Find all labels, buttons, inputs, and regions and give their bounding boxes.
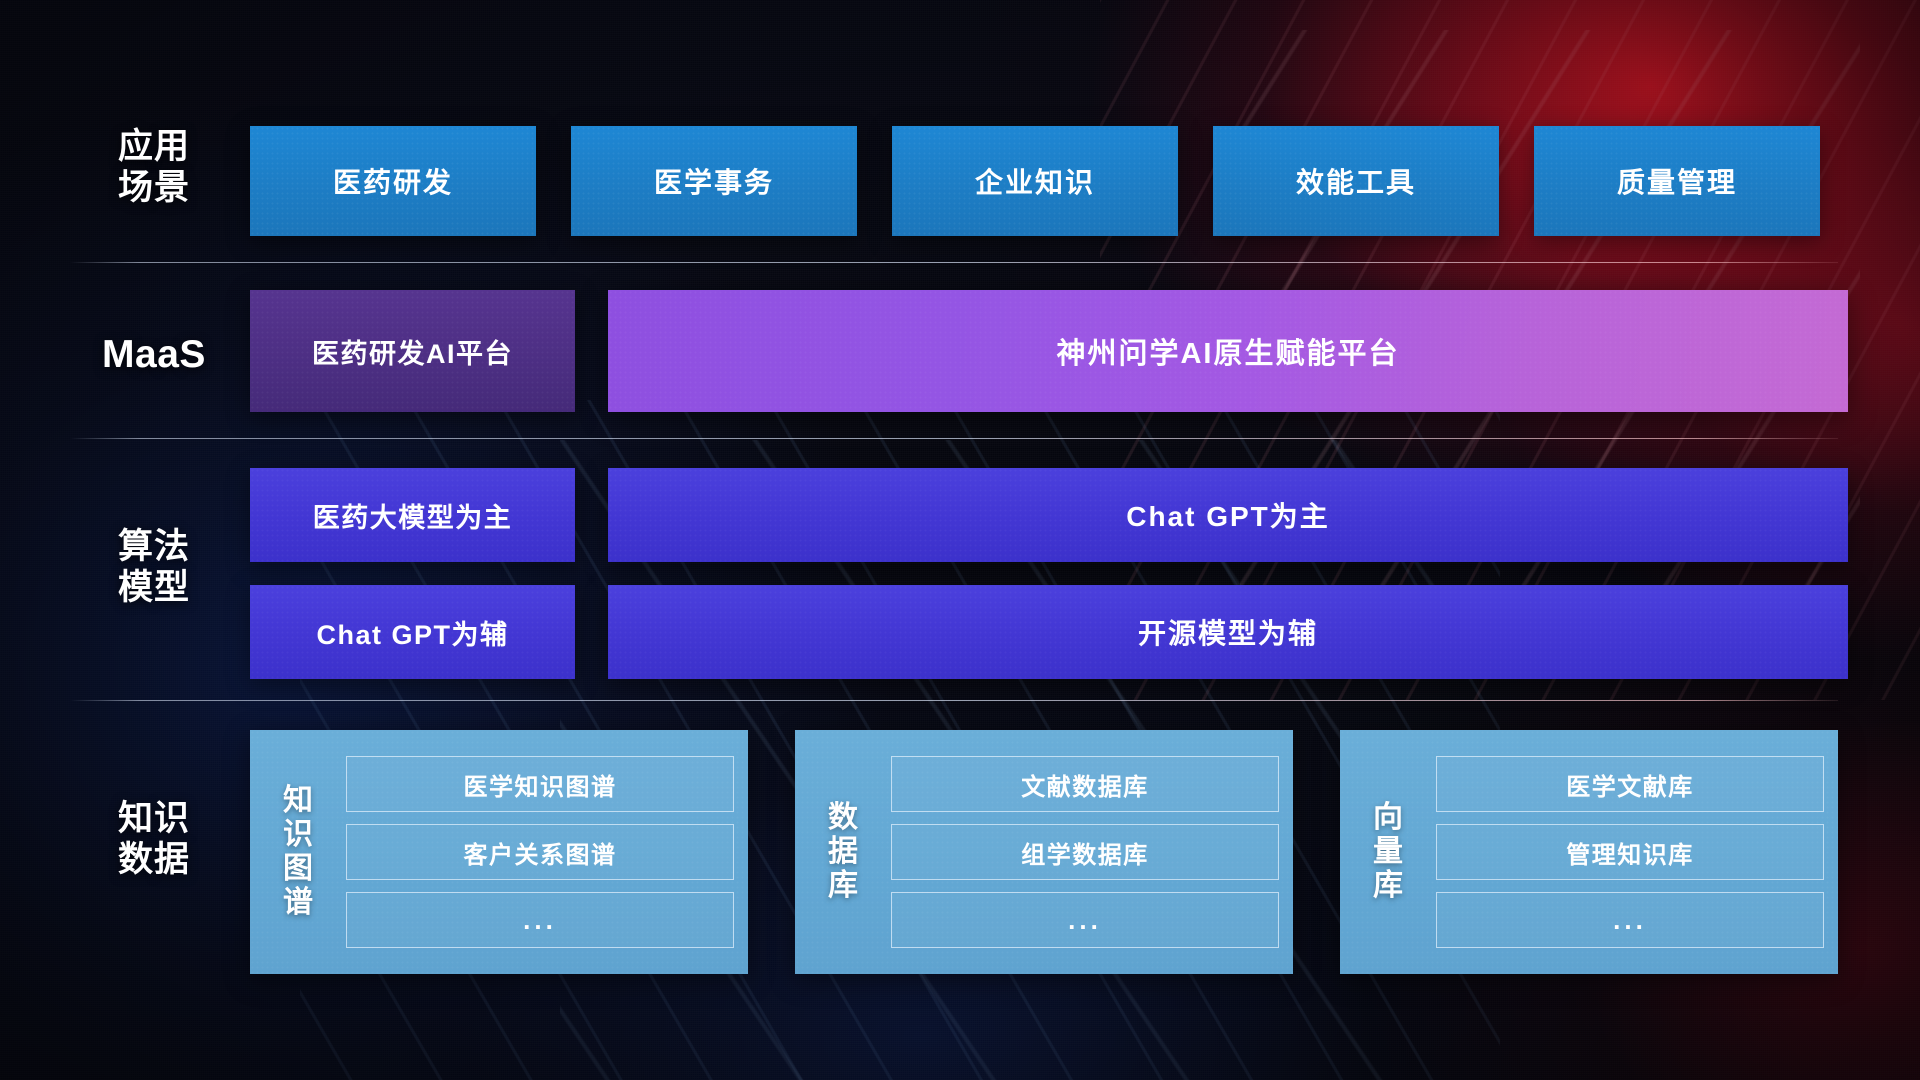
title-char: 据 bbox=[813, 835, 873, 869]
row-label-line-2: 模型 bbox=[70, 567, 238, 608]
app-card-medical-affairs[interactable]: 医学事务 bbox=[571, 126, 857, 236]
row-label-line-1: 应用 bbox=[70, 126, 238, 167]
divider-maas-algorithms bbox=[70, 438, 1838, 439]
algorithm-row-primary: 医药大模型为主 Chat GPT为主 bbox=[250, 468, 1848, 562]
knowledge-item-management-knowledge-store[interactable]: 管理知识库 bbox=[1436, 824, 1824, 880]
title-char: 库 bbox=[813, 869, 873, 903]
knowledge-item-more[interactable]: ... bbox=[346, 892, 734, 948]
title-char: 图 bbox=[268, 852, 328, 886]
knowledge-group-title-vector-store: 向 量 库 bbox=[1358, 801, 1418, 904]
app-card-efficiency-tools[interactable]: 效能工具 bbox=[1213, 126, 1499, 236]
row-label-maas: MaaS bbox=[70, 332, 238, 378]
knowledge-item-list: 文献数据库 组学数据库 ... bbox=[873, 756, 1279, 948]
knowledge-group-knowledge-graph: 知 识 图 谱 医学知识图谱 客户关系图谱 ... bbox=[250, 730, 748, 974]
knowledge-group-title-database: 数 据 库 bbox=[813, 801, 873, 904]
title-char: 知 bbox=[268, 784, 328, 818]
architecture-diagram: 应用 场景 医药研发 医学事务 企业知识 效能工具 质量管理 MaaS 医药研发… bbox=[0, 0, 1920, 1080]
app-card-quality-management[interactable]: 质量管理 bbox=[1534, 126, 1820, 236]
title-char: 识 bbox=[268, 818, 328, 852]
knowledge-item-more[interactable]: ... bbox=[891, 892, 1279, 948]
maas-card-drug-rd-ai-platform[interactable]: 医药研发AI平台 bbox=[250, 290, 575, 412]
knowledge-item-omics-database[interactable]: 组学数据库 bbox=[891, 824, 1279, 880]
row-label-algorithms-models: 算法 模型 bbox=[70, 526, 238, 609]
title-char: 量 bbox=[1358, 835, 1418, 869]
knowledge-item-more[interactable]: ... bbox=[1436, 892, 1824, 948]
knowledge-item-medical-literature-store[interactable]: 医学文献库 bbox=[1436, 756, 1824, 812]
app-card-enterprise-knowledge[interactable]: 企业知识 bbox=[892, 126, 1178, 236]
knowledge-item-literature-database[interactable]: 文献数据库 bbox=[891, 756, 1279, 812]
slide-canvas: 应用 场景 医药研发 医学事务 企业知识 效能工具 质量管理 MaaS 医药研发… bbox=[0, 0, 1920, 1080]
app-card-drug-rd[interactable]: 医药研发 bbox=[250, 126, 536, 236]
row-label-line-2: 数据 bbox=[70, 839, 238, 880]
row-knowledge-data: 知识 数据 知 识 图 谱 医学知识图谱 客户关系图谱 ... bbox=[70, 730, 1920, 974]
knowledge-group-title-knowledge-graph: 知 识 图 谱 bbox=[268, 784, 328, 921]
row-maas: MaaS 医药研发AI平台 神州问学AI原生赋能平台 bbox=[70, 290, 1920, 412]
algo-card-pharma-llm-primary[interactable]: 医药大模型为主 bbox=[250, 468, 575, 562]
row-label-line-2: 场景 bbox=[70, 167, 238, 208]
knowledge-item-medical-knowledge-graph[interactable]: 医学知识图谱 bbox=[346, 756, 734, 812]
algo-card-chatgpt-secondary[interactable]: Chat GPT为辅 bbox=[250, 585, 575, 679]
maas-card-shenzhou-wenxue-platform[interactable]: 神州问学AI原生赋能平台 bbox=[608, 290, 1848, 412]
divider-algorithms-knowledge bbox=[70, 700, 1838, 701]
row-label-application-scenarios: 应用 场景 bbox=[70, 126, 238, 209]
algorithm-card-grid: 医药大模型为主 Chat GPT为主 Chat GPT为辅 开源模型为辅 bbox=[250, 468, 1848, 679]
knowledge-group-database: 数 据 库 文献数据库 组学数据库 ... bbox=[795, 730, 1293, 974]
knowledge-group-vector-store: 向 量 库 医学文献库 管理知识库 ... bbox=[1340, 730, 1838, 974]
knowledge-item-customer-relationship-graph[interactable]: 客户关系图谱 bbox=[346, 824, 734, 880]
row-label-knowledge-data: 知识 数据 bbox=[70, 798, 238, 881]
divider-apps-maas bbox=[70, 262, 1838, 263]
knowledge-item-list: 医学文献库 管理知识库 ... bbox=[1418, 756, 1824, 948]
knowledge-group-list: 知 识 图 谱 医学知识图谱 客户关系图谱 ... 数 据 bbox=[250, 730, 1838, 974]
row-algorithms-models: 算法 模型 医药大模型为主 Chat GPT为主 Chat GPT为辅 开源模型… bbox=[70, 468, 1920, 678]
algo-card-opensource-secondary[interactable]: 开源模型为辅 bbox=[608, 585, 1848, 679]
algo-card-chatgpt-primary[interactable]: Chat GPT为主 bbox=[608, 468, 1848, 562]
row-label-line-1: 知识 bbox=[70, 798, 238, 839]
title-char: 向 bbox=[1358, 801, 1418, 835]
title-char: 数 bbox=[813, 801, 873, 835]
application-card-list: 医药研发 医学事务 企业知识 效能工具 质量管理 bbox=[250, 126, 1820, 236]
knowledge-item-list: 医学知识图谱 客户关系图谱 ... bbox=[328, 756, 734, 948]
row-application-scenarios: 应用 场景 医药研发 医学事务 企业知识 效能工具 质量管理 bbox=[70, 126, 1920, 236]
maas-card-list: 医药研发AI平台 神州问学AI原生赋能平台 bbox=[250, 290, 1848, 412]
algorithm-row-secondary: Chat GPT为辅 开源模型为辅 bbox=[250, 585, 1848, 679]
row-label-line-1: 算法 bbox=[70, 526, 238, 567]
title-char: 库 bbox=[1358, 869, 1418, 903]
title-char: 谱 bbox=[268, 886, 328, 920]
